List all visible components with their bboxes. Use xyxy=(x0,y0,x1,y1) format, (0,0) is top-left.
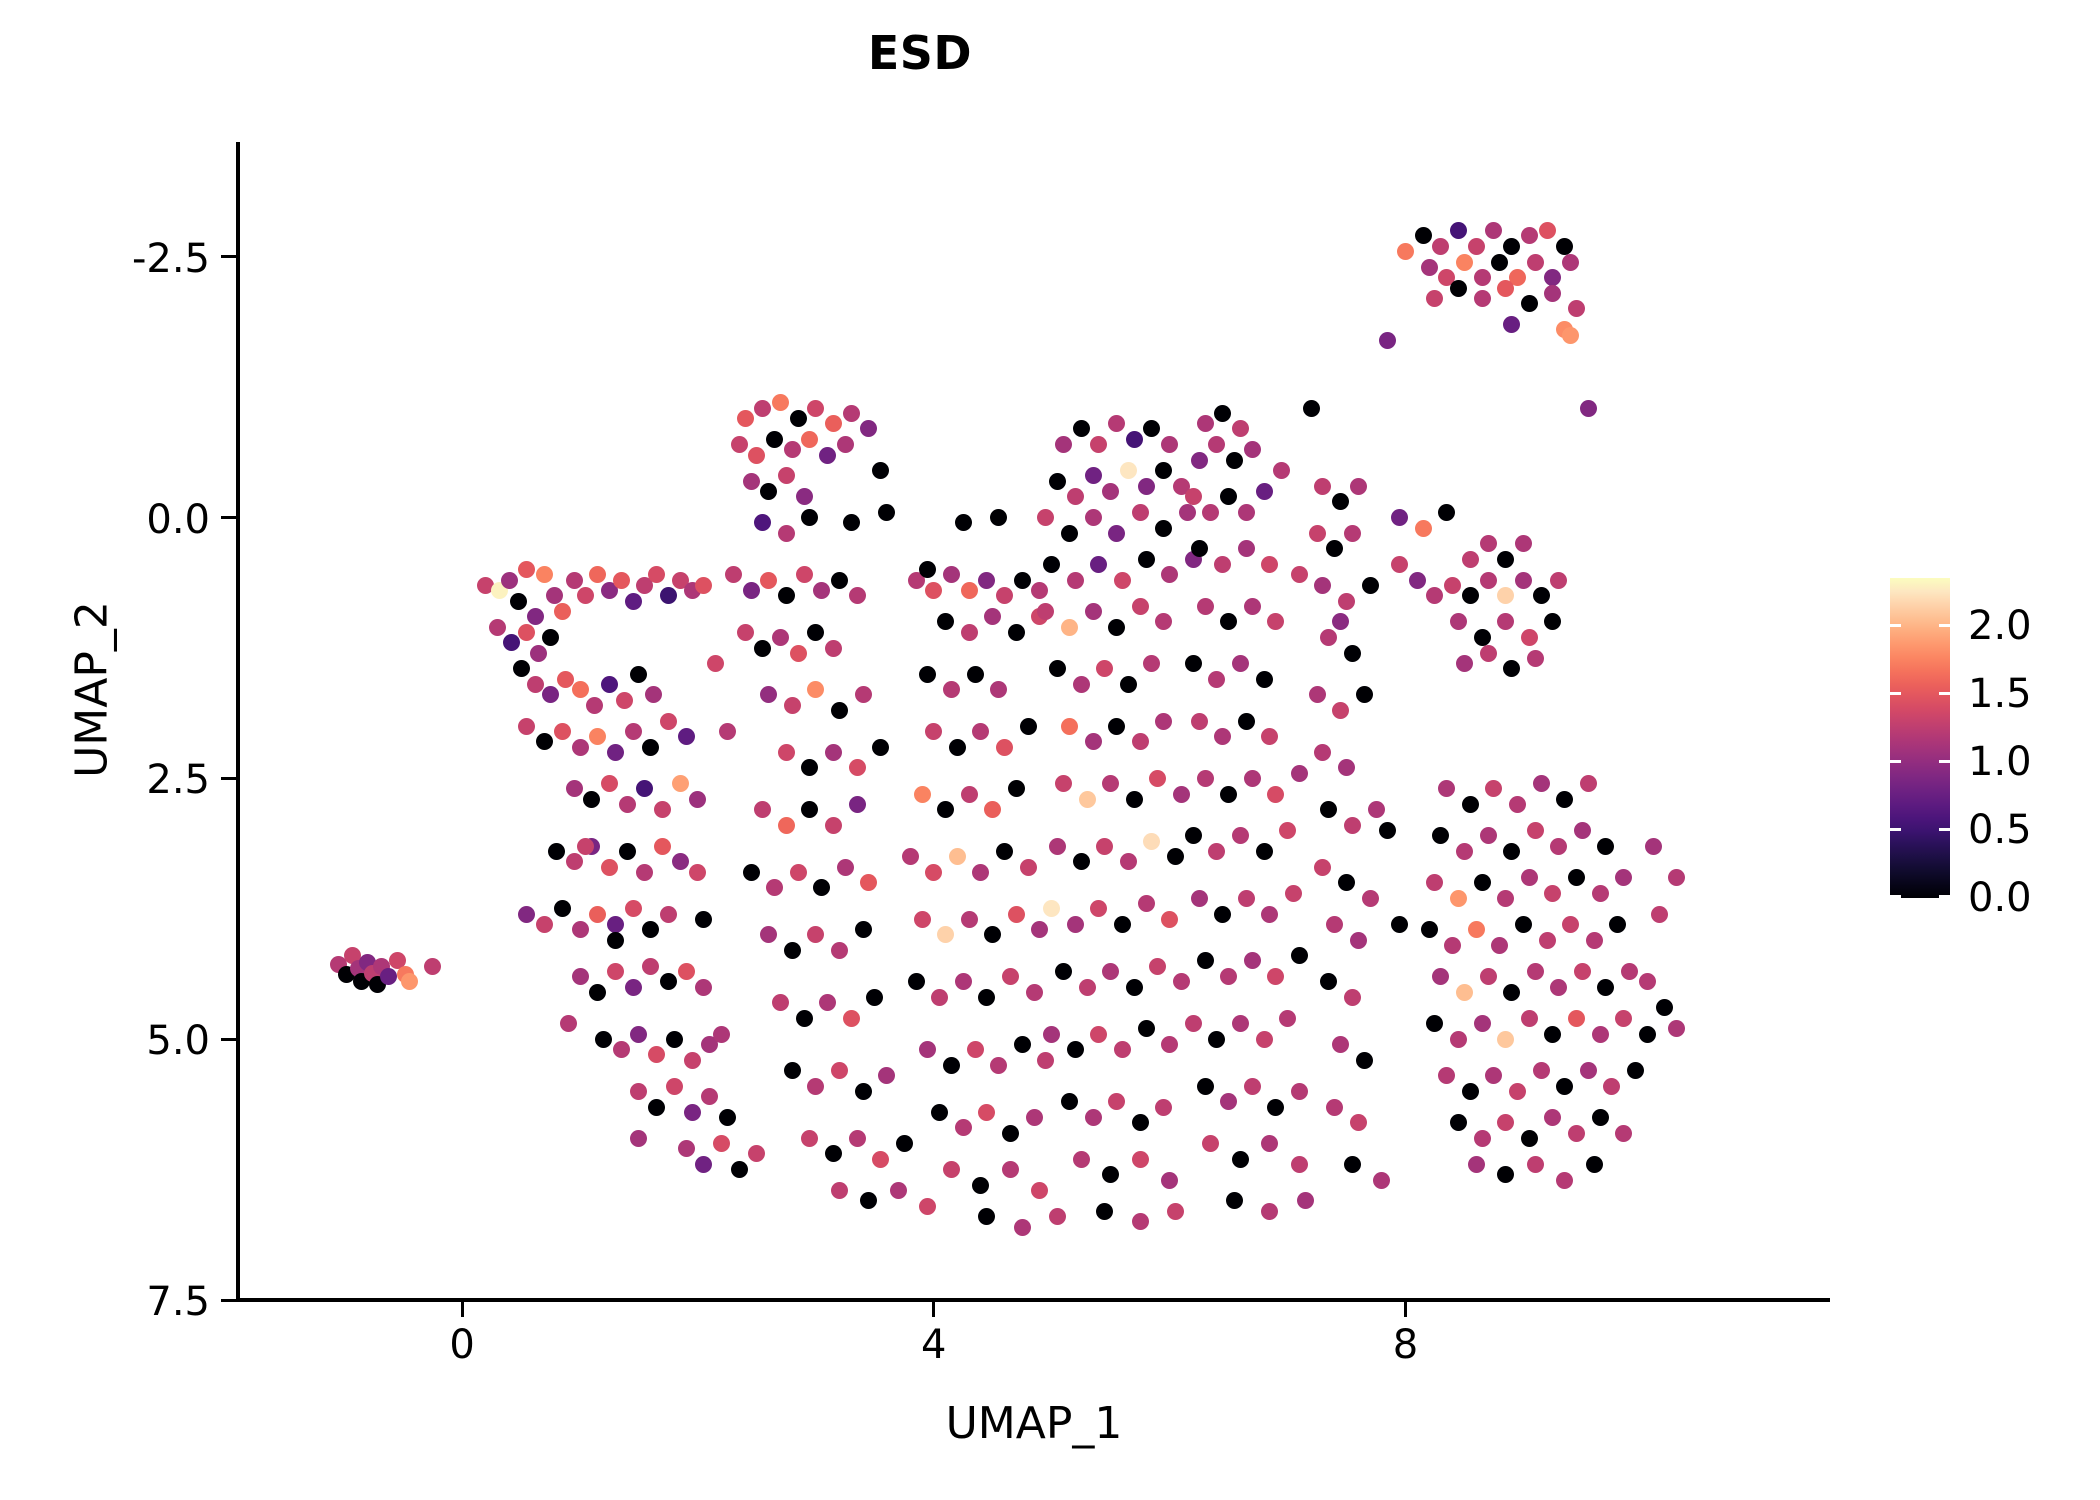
scatter-point xyxy=(1474,1015,1491,1032)
scatter-point xyxy=(1291,1156,1308,1173)
scatter-point xyxy=(1120,676,1137,693)
scatter-point xyxy=(1138,895,1155,912)
scatter-point xyxy=(825,640,842,657)
scatter-point xyxy=(1409,572,1426,589)
x-tick-label: 8 xyxy=(1345,1322,1465,1368)
scatter-point xyxy=(961,582,978,599)
scatter-point xyxy=(1568,1125,1585,1142)
scatter-point xyxy=(648,1099,665,1116)
scatter-point xyxy=(1668,869,1685,886)
scatter-point xyxy=(1238,890,1255,907)
scatter-point xyxy=(1220,488,1237,505)
scatter-point xyxy=(701,1088,718,1105)
scatter-point xyxy=(984,801,1001,818)
x-tick-mark xyxy=(932,1302,935,1317)
scatter-point xyxy=(1244,441,1261,458)
scatter-point xyxy=(1173,786,1190,803)
scatter-point xyxy=(1521,629,1538,646)
scatter-point xyxy=(1008,906,1025,923)
scatter-point xyxy=(937,926,954,943)
scatter-point xyxy=(1132,598,1149,615)
scatter-point xyxy=(601,676,618,693)
scatter-point xyxy=(961,786,978,803)
scatter-point xyxy=(1090,556,1107,573)
scatter-point xyxy=(501,572,518,589)
scatter-point xyxy=(1503,984,1520,1001)
y-tick-mark xyxy=(221,777,236,780)
scatter-point xyxy=(1462,796,1479,813)
scatter-point xyxy=(707,655,724,672)
scatter-point xyxy=(1574,963,1591,980)
scatter-point xyxy=(666,1031,683,1048)
scatter-point xyxy=(784,441,801,458)
scatter-point xyxy=(1208,1031,1225,1048)
scatter-point xyxy=(1521,1010,1538,1027)
scatter-point xyxy=(1220,613,1237,630)
scatter-point xyxy=(1108,718,1125,735)
scatter-point xyxy=(572,921,589,938)
scatter-point xyxy=(1338,759,1355,776)
scatter-point xyxy=(1244,598,1261,615)
scatter-point xyxy=(1456,984,1473,1001)
scatter-point xyxy=(796,488,813,505)
scatter-point xyxy=(1556,791,1573,808)
scatter-point xyxy=(1592,885,1609,902)
scatter-point xyxy=(689,864,706,881)
scatter-point xyxy=(1639,973,1656,990)
scatter-point xyxy=(1580,775,1597,792)
scatter-point xyxy=(972,723,989,740)
scatter-point xyxy=(1544,285,1561,302)
scatter-point xyxy=(937,801,954,818)
scatter-point xyxy=(943,1161,960,1178)
scatter-point xyxy=(1061,1093,1078,1110)
scatter-point xyxy=(1485,1067,1502,1084)
scatter-point xyxy=(1338,593,1355,610)
scatter-point xyxy=(1320,629,1337,646)
scatter-point xyxy=(1480,827,1497,844)
scatter-point xyxy=(1521,1130,1538,1147)
scatter-point xyxy=(1592,1109,1609,1126)
scatter-point xyxy=(1379,822,1396,839)
scatter-point xyxy=(1279,1010,1296,1027)
scatter-point xyxy=(713,1135,730,1152)
scatter-point xyxy=(1314,577,1331,594)
scatter-point xyxy=(1344,525,1361,542)
scatter-point xyxy=(1421,921,1438,938)
scatter-point xyxy=(1491,254,1508,271)
scatter-point xyxy=(1497,551,1514,568)
scatter-point xyxy=(1426,290,1443,307)
scatter-point xyxy=(1026,1109,1043,1126)
scatter-point xyxy=(778,744,795,761)
scatter-point xyxy=(1574,822,1591,839)
scatter-point xyxy=(1161,1172,1178,1189)
scatter-point xyxy=(1320,801,1337,818)
scatter-point xyxy=(1108,415,1125,432)
scatter-point xyxy=(1191,452,1208,469)
scatter-point xyxy=(589,906,606,923)
scatter-point xyxy=(1533,587,1550,604)
scatter-point xyxy=(843,405,860,422)
scatter-point xyxy=(919,1041,936,1058)
scatter-point xyxy=(919,561,936,578)
scatter-point xyxy=(772,394,789,411)
scatter-point xyxy=(914,911,931,928)
scatter-point xyxy=(1533,1062,1550,1079)
scatter-point xyxy=(660,906,677,923)
scatter-point xyxy=(1539,222,1556,239)
scatter-point xyxy=(1544,1026,1561,1043)
scatter-point xyxy=(1421,259,1438,276)
scatter-point xyxy=(1067,1041,1084,1058)
scatter-point xyxy=(807,624,824,641)
scatter-point xyxy=(1102,963,1119,980)
scatter-point xyxy=(518,718,535,735)
scatter-point xyxy=(1185,488,1202,505)
scatter-point xyxy=(1356,686,1373,703)
scatter-point xyxy=(684,1052,701,1069)
scatter-point xyxy=(731,1161,748,1178)
scatter-point xyxy=(1544,613,1561,630)
scatter-point xyxy=(1332,702,1349,719)
scatter-point xyxy=(1544,885,1561,902)
scatter-point xyxy=(931,1104,948,1121)
scatter-point xyxy=(1615,1010,1632,1027)
scatter-point xyxy=(855,921,872,938)
scatter-point xyxy=(908,973,925,990)
scatter-point xyxy=(1568,300,1585,317)
scatter-point xyxy=(601,775,618,792)
scatter-point xyxy=(1273,462,1290,479)
scatter-point xyxy=(1126,431,1143,448)
scatter-point xyxy=(1055,775,1072,792)
y-axis-ticks: 7.55.02.50.0-2.5 xyxy=(0,0,238,1500)
scatter-point xyxy=(760,483,777,500)
scatter-point xyxy=(1426,1015,1443,1032)
scatter-point xyxy=(1031,921,1048,938)
scatter-point xyxy=(1267,786,1284,803)
scatter-point xyxy=(566,780,583,797)
scatter-point xyxy=(1450,613,1467,630)
scatter-point xyxy=(1173,973,1190,990)
scatter-point xyxy=(1108,525,1125,542)
scatter-point xyxy=(1161,911,1178,928)
scatter-point xyxy=(825,744,842,761)
scatter-point xyxy=(1450,890,1467,907)
scatter-point xyxy=(1202,1135,1219,1152)
scatter-point xyxy=(1462,587,1479,604)
scatter-point xyxy=(719,723,736,740)
scatter-point xyxy=(1332,1036,1349,1053)
scatter-point xyxy=(1415,227,1432,244)
scatter-point xyxy=(1014,1219,1031,1236)
scatter-point xyxy=(642,958,659,975)
scatter-point xyxy=(554,723,571,740)
scatter-point xyxy=(754,400,771,417)
scatter-point xyxy=(1450,1114,1467,1131)
scatter-point xyxy=(1043,556,1060,573)
scatter-point xyxy=(1556,1078,1573,1095)
scatter-point xyxy=(577,838,594,855)
scatter-point xyxy=(1468,238,1485,255)
scatter-point xyxy=(1497,1114,1514,1131)
scatter-point xyxy=(1138,551,1155,568)
scatter-point xyxy=(1326,1099,1343,1116)
scatter-point xyxy=(1055,436,1072,453)
scatter-point xyxy=(978,1104,995,1121)
scatter-point xyxy=(607,744,624,761)
scatter-point xyxy=(772,994,789,1011)
scatter-point xyxy=(1415,520,1432,537)
x-tick-label: 4 xyxy=(874,1322,994,1368)
scatter-point xyxy=(625,979,642,996)
scatter-point xyxy=(1592,1026,1609,1043)
scatter-point xyxy=(878,504,895,521)
scatter-point xyxy=(1645,838,1662,855)
scatter-point xyxy=(1167,848,1184,865)
scatter-point xyxy=(678,728,695,745)
scatter-point xyxy=(778,525,795,542)
scatter-point xyxy=(872,739,889,756)
scatter-point xyxy=(1491,937,1508,954)
scatter-point xyxy=(996,587,1013,604)
scatter-point xyxy=(1079,791,1096,808)
scatter-point xyxy=(961,624,978,641)
scatter-point xyxy=(831,572,848,589)
scatter-point xyxy=(1391,509,1408,526)
scatter-point xyxy=(1185,655,1202,672)
scatter-point xyxy=(518,624,535,641)
scatter-point xyxy=(778,467,795,484)
scatter-point xyxy=(1556,238,1573,255)
scatter-point xyxy=(1143,833,1160,850)
scatter-point xyxy=(1126,979,1143,996)
scatter-point xyxy=(790,645,807,662)
scatter-point xyxy=(819,994,836,1011)
scatter-point xyxy=(978,989,995,1006)
scatter-point xyxy=(1326,916,1343,933)
scatter-point xyxy=(807,681,824,698)
scatter-point xyxy=(1450,1031,1467,1048)
scatter-point xyxy=(1562,254,1579,271)
scatter-point xyxy=(1149,958,1166,975)
scatter-point xyxy=(1179,504,1196,521)
y-tick-mark xyxy=(221,1299,236,1302)
colorbar-tick-mark xyxy=(1939,895,1950,898)
scatter-point xyxy=(713,1026,730,1043)
scatter-point xyxy=(1096,660,1113,677)
scatter-point xyxy=(1462,1083,1479,1100)
colorbar-tick-mark xyxy=(1890,828,1901,831)
scatter-point xyxy=(1085,733,1102,750)
scatter-point xyxy=(1197,598,1214,615)
scatter-point xyxy=(1067,572,1084,589)
scatter-point xyxy=(1456,843,1473,860)
scatter-point xyxy=(978,572,995,589)
scatter-point xyxy=(1503,660,1520,677)
scatter-point xyxy=(849,796,866,813)
scatter-point xyxy=(801,801,818,818)
scatter-point xyxy=(937,613,954,630)
scatter-point xyxy=(801,431,818,448)
scatter-point xyxy=(1220,1093,1237,1110)
scatter-point xyxy=(619,796,636,813)
scatter-points-layer xyxy=(238,142,1830,1300)
scatter-point xyxy=(642,739,659,756)
scatter-point xyxy=(1550,838,1567,855)
scatter-point xyxy=(1527,1156,1544,1173)
scatter-point xyxy=(513,660,530,677)
scatter-point xyxy=(1002,1125,1019,1142)
scatter-point xyxy=(1232,1151,1249,1168)
scatter-point xyxy=(961,911,978,928)
scatter-point xyxy=(1556,1172,1573,1189)
scatter-point xyxy=(630,1130,647,1147)
scatter-point xyxy=(1256,483,1273,500)
scatter-point xyxy=(1291,566,1308,583)
scatter-point xyxy=(1527,650,1544,667)
scatter-point xyxy=(1020,859,1037,876)
scatter-point xyxy=(1586,1156,1603,1173)
scatter-point xyxy=(1132,504,1149,521)
scatter-point xyxy=(1314,478,1331,495)
scatter-point xyxy=(760,686,777,703)
page-title: ESD xyxy=(0,26,1840,80)
scatter-point xyxy=(1391,916,1408,933)
scatter-point xyxy=(943,566,960,583)
scatter-point xyxy=(1544,1109,1561,1126)
scatter-point xyxy=(1544,269,1561,286)
scatter-point xyxy=(1562,916,1579,933)
scatter-point xyxy=(902,848,919,865)
scatter-point xyxy=(967,666,984,683)
scatter-point xyxy=(1438,1067,1455,1084)
scatter-point xyxy=(1185,1015,1202,1032)
scatter-point xyxy=(660,973,677,990)
scatter-point xyxy=(695,577,712,594)
scatter-point xyxy=(790,410,807,427)
scatter-point xyxy=(1090,900,1107,917)
scatter-point xyxy=(719,1109,736,1126)
scatter-point xyxy=(855,1083,872,1100)
scatter-point xyxy=(807,926,824,943)
scatter-point xyxy=(1444,577,1461,594)
scatter-point xyxy=(1279,822,1296,839)
scatter-point xyxy=(1067,488,1084,505)
scatter-point xyxy=(1350,478,1367,495)
scatter-point xyxy=(825,817,842,834)
scatter-point xyxy=(1291,1083,1308,1100)
scatter-point xyxy=(1085,509,1102,526)
scatter-point xyxy=(955,1119,972,1136)
colorbar-tick-label: 1.0 xyxy=(1968,742,2032,782)
scatter-point xyxy=(1208,843,1225,860)
scatter-point xyxy=(1120,462,1137,479)
scatter-point xyxy=(1132,1213,1149,1230)
scatter-point xyxy=(1002,968,1019,985)
scatter-point xyxy=(1261,556,1278,573)
scatter-point xyxy=(1539,932,1556,949)
y-tick-label: 2.5 xyxy=(40,757,210,803)
scatter-point xyxy=(625,723,642,740)
scatter-point xyxy=(972,1177,989,1194)
scatter-point xyxy=(536,566,553,583)
scatter-point xyxy=(1291,947,1308,964)
scatter-point xyxy=(1191,540,1208,557)
scatter-point xyxy=(1049,1208,1066,1225)
x-tick-label: 0 xyxy=(402,1322,522,1368)
colorbar-tick-mark xyxy=(1890,624,1901,627)
scatter-point xyxy=(978,1208,995,1225)
scatter-point xyxy=(424,958,441,975)
scatter-point xyxy=(1232,655,1249,672)
scatter-point xyxy=(849,1130,866,1147)
scatter-point xyxy=(648,1046,665,1063)
scatter-point xyxy=(778,587,795,604)
scatter-point xyxy=(1220,968,1237,985)
scatter-point xyxy=(1167,1203,1184,1220)
scatter-point xyxy=(1102,1166,1119,1183)
scatter-point xyxy=(825,1145,842,1162)
scatter-point xyxy=(527,608,544,625)
colorbar-tick-mark xyxy=(1890,895,1901,898)
scatter-point xyxy=(1391,556,1408,573)
scatter-point xyxy=(784,1062,801,1079)
scatter-point xyxy=(601,859,618,876)
scatter-point xyxy=(1232,1015,1249,1032)
scatter-point xyxy=(566,853,583,870)
scatter-point xyxy=(855,686,872,703)
scatter-point xyxy=(1509,1083,1526,1100)
scatter-point xyxy=(860,874,877,891)
scatter-point xyxy=(860,420,877,437)
scatter-point xyxy=(1533,775,1550,792)
scatter-point xyxy=(1090,1026,1107,1043)
scatter-point xyxy=(754,801,771,818)
scatter-point xyxy=(831,1182,848,1199)
scatter-point xyxy=(1344,817,1361,834)
scatter-point xyxy=(1049,660,1066,677)
scatter-point xyxy=(1061,525,1078,542)
scatter-point xyxy=(1480,645,1497,662)
scatter-point xyxy=(1049,473,1066,490)
scatter-point xyxy=(625,900,642,917)
scatter-point xyxy=(1562,327,1579,344)
scatter-point xyxy=(737,410,754,427)
scatter-point xyxy=(1480,535,1497,552)
scatter-point xyxy=(990,509,1007,526)
scatter-point xyxy=(1639,1026,1656,1043)
scatter-point xyxy=(1597,979,1614,996)
scatter-point xyxy=(636,864,653,881)
scatter-point xyxy=(1468,921,1485,938)
scatter-point xyxy=(1037,603,1054,620)
scatter-point xyxy=(1149,770,1166,787)
umap-feature-plot: ESD 7.55.02.50.0-2.5 048 UMAP_1 UMAP_2 2… xyxy=(0,0,2100,1500)
scatter-point xyxy=(1026,984,1043,1001)
scatter-point xyxy=(666,1078,683,1095)
scatter-point xyxy=(1603,1078,1620,1095)
scatter-point xyxy=(949,848,966,865)
scatter-point xyxy=(1090,436,1107,453)
scatter-point xyxy=(1085,1109,1102,1126)
scatter-point xyxy=(660,713,677,730)
scatter-point xyxy=(548,843,565,860)
scatter-point xyxy=(589,984,606,1001)
scatter-point xyxy=(1497,280,1514,297)
scatter-point xyxy=(1515,572,1532,589)
